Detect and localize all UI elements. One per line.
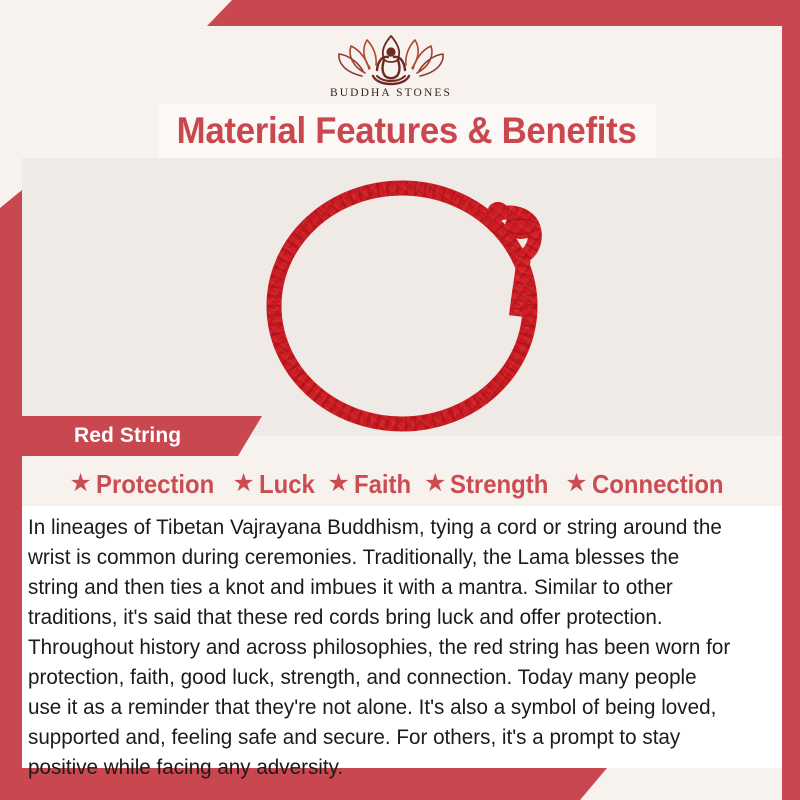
brand-logo: BUDDHA STONES (330, 30, 452, 99)
feature-label: Protection (96, 469, 214, 500)
page-title: Material Features & Benefits (177, 110, 637, 152)
brand-header: BUDDHA STONES (0, 26, 782, 102)
feature-label: Faith (354, 469, 411, 500)
star-icon: ★ (565, 471, 587, 496)
frame-top-accent (0, 0, 800, 26)
lotus-meditation-figure-icon (332, 30, 450, 86)
frame-right-accent (782, 0, 800, 800)
star-icon: ★ (232, 471, 254, 496)
frame-left-upper-accent (0, 190, 22, 432)
feature-item-luck: ★ Luck (232, 469, 319, 500)
page-title-band: Material Features & Benefits (158, 104, 656, 158)
feature-item-strength: ★ Strength (424, 469, 557, 500)
description-text: In lineages of Tibetan Vajrayana Buddhis… (28, 512, 734, 782)
feature-list: ★ Protection ★ Luck ★ Faith ★ Strength ★… (22, 462, 782, 506)
infographic-page: BUDDHA STONES Material Features & Benefi… (0, 0, 800, 800)
feature-item-connection: ★ Connection (565, 469, 734, 500)
brand-name: BUDDHA STONES (330, 87, 452, 99)
product-image-panel (22, 158, 782, 436)
star-icon: ★ (69, 471, 91, 496)
feature-label: Connection (592, 469, 724, 500)
feature-label: Strength (450, 469, 548, 500)
feature-label: Luck (259, 469, 315, 500)
red-braided-bracelet-image (250, 166, 580, 434)
description-panel: In lineages of Tibetan Vajrayana Buddhis… (22, 506, 782, 768)
frame-left-lower-accent (0, 432, 22, 778)
star-icon: ★ (327, 471, 349, 496)
feature-item-faith: ★ Faith (327, 469, 416, 500)
product-label-banner: Red String (22, 416, 262, 456)
feature-item-protection: ★ Protection (69, 469, 224, 500)
product-label: Red String (74, 424, 181, 448)
star-icon: ★ (424, 471, 446, 496)
